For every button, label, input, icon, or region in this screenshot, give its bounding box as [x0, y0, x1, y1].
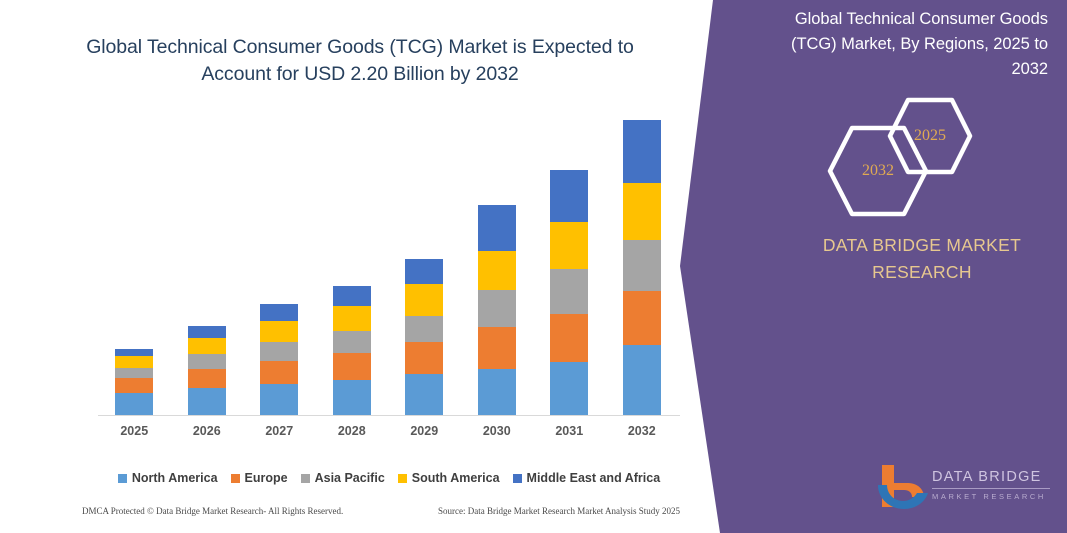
bar-group	[171, 120, 244, 416]
legend-swatch-icon	[231, 474, 240, 483]
bar-segment[interactable]	[550, 170, 588, 222]
x-axis-label: 2025	[98, 424, 171, 438]
bar-segment[interactable]	[188, 338, 226, 354]
bar-group	[461, 120, 534, 416]
hexagon-badges: 2025 2032	[818, 96, 998, 201]
logo-wordmark: DATA BRIDGE MARKET RESEARCH	[932, 469, 1054, 502]
infographic-slide: Global Technical Consumer Goods (TCG) Ma…	[0, 0, 1067, 533]
bar-segment[interactable]	[115, 368, 153, 379]
legend-swatch-icon	[118, 474, 127, 483]
bar-segment[interactable]	[333, 331, 371, 353]
bar-segment[interactable]	[623, 183, 661, 240]
bar-segment[interactable]	[260, 361, 298, 384]
bar-segment[interactable]	[260, 304, 298, 320]
bar-segment[interactable]	[623, 240, 661, 291]
logo-line-1: DATA BRIDGE	[932, 469, 1054, 486]
company-logo: DATA BRIDGE MARKET RESEARCH	[874, 463, 1054, 511]
bar-segment[interactable]	[478, 369, 516, 416]
brand-name: DATA BRIDGE MARKET RESEARCH	[822, 232, 1022, 286]
bar-segment[interactable]	[405, 342, 443, 374]
bar-segment[interactable]	[623, 345, 661, 416]
bar-segment[interactable]	[478, 327, 516, 369]
bar-segment[interactable]	[115, 378, 153, 393]
bar-segment[interactable]	[623, 291, 661, 345]
stacked-bar[interactable]	[333, 286, 371, 416]
legend-item[interactable]: North America	[118, 471, 218, 485]
bar-segment[interactable]	[115, 393, 153, 416]
bar-segment[interactable]	[188, 369, 226, 388]
bar-segment[interactable]	[188, 388, 226, 416]
bar-group	[98, 120, 171, 416]
stacked-bar[interactable]	[260, 304, 298, 416]
bar-segment[interactable]	[333, 306, 371, 332]
hexagon-label: 2032	[862, 162, 894, 180]
stacked-bar[interactable]	[550, 170, 588, 416]
bar-segment[interactable]	[188, 326, 226, 338]
x-axis-label: 2026	[171, 424, 244, 438]
legend-label: North America	[132, 471, 218, 485]
stacked-bar[interactable]	[405, 259, 443, 416]
legend-label: Europe	[245, 471, 288, 485]
bar-segment[interactable]	[550, 362, 588, 416]
bar-segment[interactable]	[260, 384, 298, 416]
panel-title: Global Technical Consumer Goods (TCG) Ma…	[756, 7, 1048, 82]
logo-divider	[932, 488, 1050, 489]
bar-segment[interactable]	[550, 269, 588, 313]
bar-segment[interactable]	[115, 349, 153, 356]
chart-baseline	[98, 415, 680, 416]
chart-plot-area	[98, 120, 678, 416]
bar-group	[388, 120, 461, 416]
bar-group	[316, 120, 389, 416]
bar-segment[interactable]	[550, 222, 588, 269]
chart-title: Global Technical Consumer Goods (TCG) Ma…	[70, 34, 650, 88]
brand-panel: Global Technical Consumer Goods (TCG) Ma…	[676, 0, 1067, 533]
legend-swatch-icon	[513, 474, 522, 483]
legend-label: Asia Pacific	[315, 471, 385, 485]
bar-segment[interactable]	[260, 342, 298, 361]
bar-segment[interactable]	[478, 251, 516, 290]
footer: DMCA Protected © Data Bridge Market Rese…	[82, 506, 682, 516]
stacked-bar[interactable]	[115, 349, 153, 416]
bar-segment[interactable]	[333, 286, 371, 306]
bar-segment[interactable]	[478, 205, 516, 251]
legend-label: Middle East and Africa	[527, 471, 661, 485]
bar-segment[interactable]	[405, 374, 443, 416]
hexagon-badge-2032: 2032	[826, 124, 930, 218]
x-axis-label: 2030	[461, 424, 534, 438]
stacked-bar[interactable]	[478, 205, 516, 416]
data-bridge-logo-icon	[874, 463, 930, 509]
legend-swatch-icon	[398, 474, 407, 483]
bar-segment[interactable]	[405, 284, 443, 316]
chart-panel: Global Technical Consumer Goods (TCG) Ma…	[0, 0, 720, 533]
bar-segment[interactable]	[405, 316, 443, 342]
x-axis-label: 2032	[606, 424, 679, 438]
x-axis-label: 2029	[388, 424, 461, 438]
bar-group	[606, 120, 679, 416]
bar-segment[interactable]	[188, 354, 226, 369]
chart-legend: North AmericaEuropeAsia PacificSouth Ame…	[98, 471, 680, 485]
x-axis-label: 2027	[243, 424, 316, 438]
bar-segment[interactable]	[405, 259, 443, 285]
legend-item[interactable]: Asia Pacific	[301, 471, 385, 485]
footer-copyright: DMCA Protected © Data Bridge Market Rese…	[82, 506, 343, 516]
bar-group	[533, 120, 606, 416]
bar-segment[interactable]	[623, 120, 661, 183]
stacked-bar[interactable]	[623, 120, 661, 416]
legend-swatch-icon	[301, 474, 310, 483]
bar-segment[interactable]	[478, 290, 516, 328]
bar-segment[interactable]	[550, 314, 588, 362]
bar-segment[interactable]	[333, 380, 371, 416]
bar-segment[interactable]	[260, 321, 298, 343]
x-axis-label: 2031	[533, 424, 606, 438]
legend-item[interactable]: Middle East and Africa	[513, 471, 661, 485]
legend-label: South America	[412, 471, 500, 485]
stacked-bar[interactable]	[188, 326, 226, 416]
bar-group	[243, 120, 316, 416]
logo-line-2: MARKET RESEARCH	[932, 492, 1054, 502]
legend-item[interactable]: Europe	[231, 471, 288, 485]
bar-segment[interactable]	[115, 356, 153, 368]
bar-segment[interactable]	[333, 353, 371, 380]
legend-item[interactable]: South America	[398, 471, 500, 485]
x-axis-label: 2028	[316, 424, 389, 438]
chart-x-axis: 20252026202720282029203020312032	[98, 424, 678, 444]
footer-source: Source: Data Bridge Market Research Mark…	[438, 506, 682, 516]
